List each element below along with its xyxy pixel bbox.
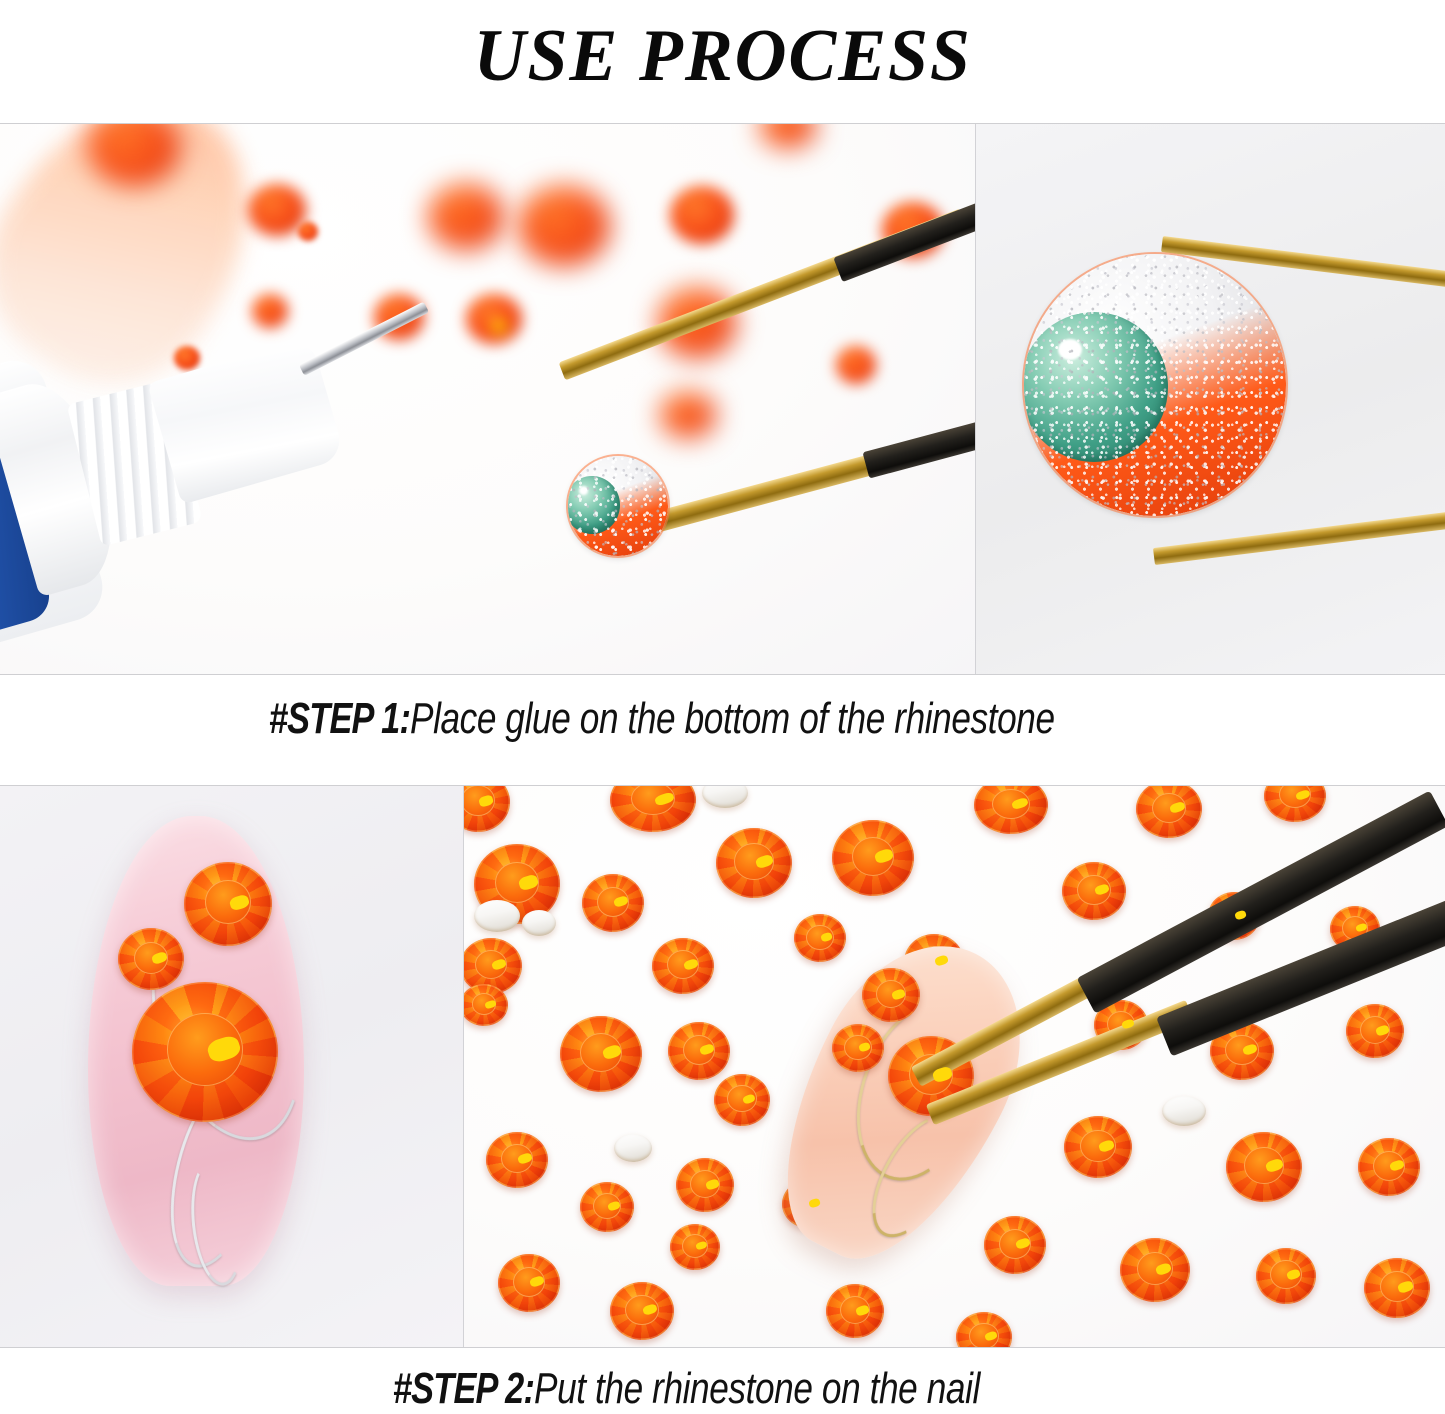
step-1-text: Place glue on the bottom of the rhinesto…	[410, 694, 1055, 744]
rhinestone-glint	[642, 1303, 658, 1316]
rhinestone-glint	[1375, 1024, 1390, 1036]
rhinestone-glint	[517, 1153, 533, 1166]
rhinestone-glint	[1295, 789, 1311, 801]
placing-rhinestone-photo	[463, 786, 1445, 1347]
nail-rhinestone	[118, 928, 184, 990]
glue-needle	[299, 302, 429, 376]
step-2-text: Put the rhinestone on the nail	[534, 1364, 980, 1414]
scattered-rhinestone	[580, 1182, 634, 1232]
scattered-rhinestone	[1226, 1132, 1302, 1202]
rhinestone-glint	[601, 1044, 622, 1061]
blurred-rhinestone	[660, 392, 716, 438]
rhinestone-glint	[613, 895, 629, 908]
rhinestone-glint	[742, 1093, 756, 1105]
rhinestone-glint	[607, 1200, 621, 1211]
scattered-rhinestone	[486, 1132, 548, 1188]
glue-droplet	[1024, 312, 1168, 462]
nail-rhinestone	[132, 982, 278, 1122]
rhinestone-glint	[1389, 1159, 1405, 1172]
rhinestone-glint	[654, 791, 675, 807]
scattered-rhinestone	[984, 1216, 1046, 1274]
step-1-caption: #STEP 1: Place glue on the bottom of the…	[0, 694, 1445, 744]
rhinestone-rim	[568, 456, 668, 556]
rhinestone-glint	[984, 1330, 998, 1341]
scattered-rhinestone	[716, 828, 792, 898]
scattered-rhinestone	[560, 1016, 642, 1092]
step-2-caption: #STEP 2: Put the rhinestone on the nail	[0, 1364, 1445, 1414]
rhinestone-glint	[683, 959, 699, 972]
rhinestone-glint	[1286, 1269, 1301, 1282]
rhinestone-glint	[699, 1043, 715, 1056]
step-2-label: #STEP 2:	[393, 1364, 534, 1414]
rhinestone-glint	[820, 932, 833, 943]
rhinestone-glint	[705, 1178, 720, 1190]
blurred-rhinestone	[836, 346, 876, 384]
scattered-rhinestone	[832, 820, 914, 896]
scattered-rhinestone	[582, 874, 644, 932]
scattered-rhinestone	[676, 1158, 734, 1212]
rhinestone-glint	[228, 893, 251, 912]
scattered-rhinestone	[826, 1284, 884, 1338]
scattered-rhinestone	[1062, 862, 1126, 920]
rhinestone-glint	[517, 873, 539, 891]
rhinestone-foil-back	[1024, 254, 1286, 516]
rhinestone-glint	[1397, 1280, 1414, 1294]
rhinestone-rim	[1024, 254, 1286, 516]
scattered-rhinestone	[714, 1074, 770, 1126]
sparkle-highlight	[492, 320, 507, 333]
step-2-image-row	[0, 785, 1445, 1348]
rhinestone-foil-back	[568, 456, 668, 556]
scattered-rhinestone	[652, 938, 714, 994]
nail-rhinestone	[862, 968, 920, 1022]
rhinestone-glint	[855, 1304, 870, 1316]
page-header: USE PROCESS	[0, 0, 1445, 112]
blurred-rhinestone	[670, 186, 734, 244]
rhinestone-glint	[873, 848, 894, 865]
rhinestone-glint	[1011, 797, 1029, 811]
glue-highlight	[579, 486, 588, 494]
rhinestone-glint	[1015, 1237, 1031, 1250]
blurred-rhinestone	[466, 294, 522, 344]
rhinestone-glint	[151, 951, 168, 965]
rhinestone-macro-photo	[975, 124, 1445, 674]
scattered-rhinestone	[1346, 1004, 1404, 1058]
flat-back-stone	[522, 910, 556, 936]
rhinestone-glint	[754, 854, 773, 870]
finished-nail-photo	[0, 786, 463, 1347]
scattered-rhinestone	[1120, 1238, 1190, 1302]
rhinestone-glint	[478, 794, 494, 807]
blurred-rhinestone	[518, 186, 610, 266]
glue-highlight	[1058, 339, 1082, 360]
scattered-rhinestone	[668, 1022, 730, 1080]
rhinestone-glint	[1094, 883, 1110, 896]
rhinestone-glint	[491, 959, 507, 972]
scattered-rhinestone	[1064, 1116, 1132, 1178]
scattered-rhinestone	[670, 1224, 720, 1270]
step-1-image-row: R D	[0, 123, 1445, 675]
page-title: USE PROCESS	[473, 19, 971, 93]
nail-rhinestone	[184, 862, 272, 946]
scattered-rhinestone	[498, 1254, 560, 1312]
rhinestone-glint	[484, 999, 496, 1009]
flat-back-stone	[474, 900, 520, 932]
scattered-rhinestone	[1364, 1258, 1430, 1318]
scattered-rhinestone	[794, 914, 846, 962]
scattered-rhinestone	[1358, 1138, 1420, 1196]
rhinestone-glint	[1264, 1158, 1283, 1174]
rhinestone-glint	[695, 1241, 708, 1251]
rhinestone-glint	[891, 988, 906, 1000]
rhinestone-glint	[1169, 801, 1186, 814]
rhinestone-glint	[1242, 1043, 1258, 1056]
rhinestone-glint	[1155, 1261, 1173, 1275]
nail-rhinestone	[832, 1024, 884, 1072]
glue-droplet	[568, 476, 620, 534]
scattered-rhinestone	[1256, 1248, 1316, 1304]
rhinestone-glint	[858, 1042, 871, 1053]
blurred-rhinestone	[428, 184, 504, 250]
rhinestone-glint	[529, 1275, 545, 1288]
scattered-rhinestone	[610, 1282, 674, 1340]
flat-back-stone	[1162, 1096, 1206, 1126]
rhinestone-glint	[1098, 1139, 1115, 1153]
rhinestone-glint	[205, 1034, 242, 1065]
flat-back-stone	[614, 1134, 652, 1162]
step-1-label: #STEP 1:	[269, 694, 410, 744]
glue-application-photo: R D	[0, 124, 975, 674]
